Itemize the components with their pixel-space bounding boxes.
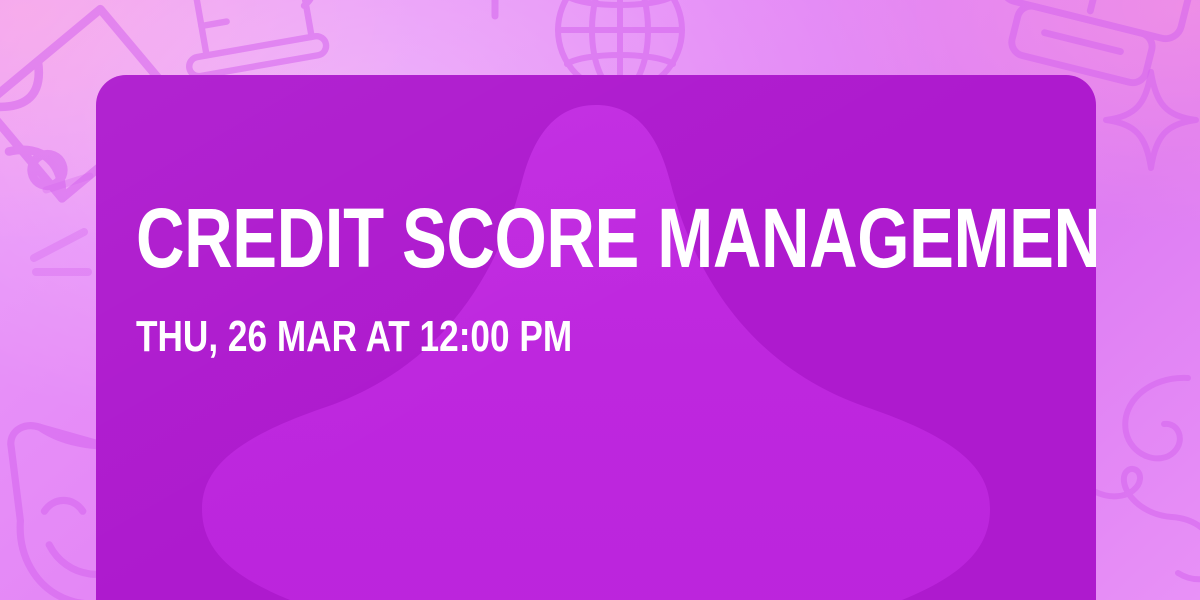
event-title: Credit Score Management: [136, 200, 872, 277]
event-datetime: Thu, 26 Mar at 12:00 PM: [136, 315, 872, 359]
event-banner: Credit Score Management Thu, 26 Mar at 1…: [0, 0, 1200, 600]
card-content: Credit Score Management Thu, 26 Mar at 1…: [136, 200, 1056, 359]
event-card: Credit Score Management Thu, 26 Mar at 1…: [96, 75, 1096, 600]
